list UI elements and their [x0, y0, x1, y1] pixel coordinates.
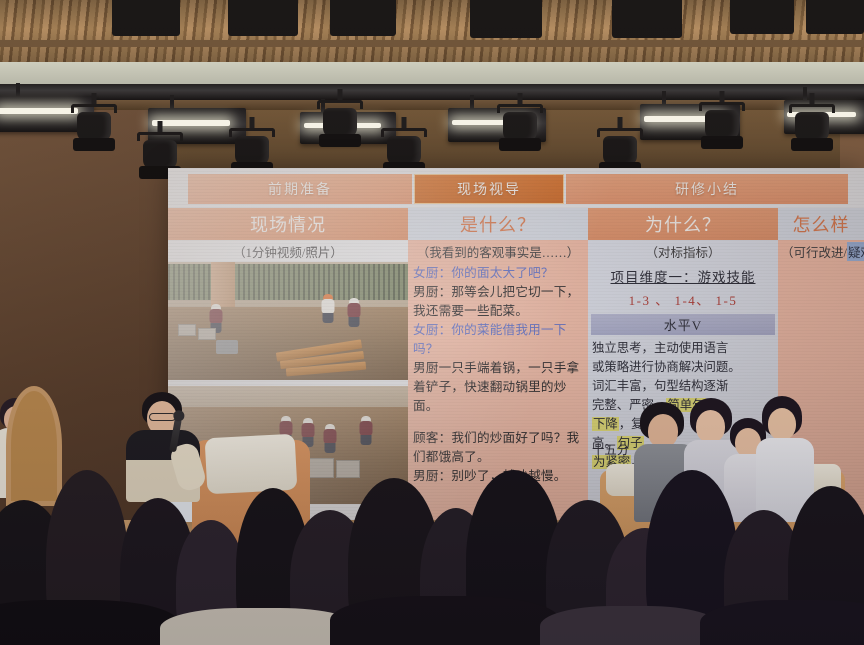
- ceiling-fixture-6: [730, 0, 794, 34]
- presenter-with-microphone: [124, 392, 214, 512]
- column-4-subtitle-plain: （可行改进/: [781, 242, 847, 261]
- transcript-line-2: 男厨：那等会儿把它切一下，我还需要一些配菜。: [413, 283, 585, 321]
- lighting-truss: [0, 84, 864, 100]
- column-4-subtitle-highlight: 疑难: [847, 242, 864, 261]
- photo-basin: [216, 340, 238, 354]
- slide-tab-preparation[interactable]: 前期准备: [188, 174, 412, 204]
- slide-tab-row: 前期准备 现场视导 研修小结: [188, 174, 848, 204]
- slide-column-what: 是什么？ （我看到的客观事实是……） 女厨：你的面太大了吧？ 男厨：那等会儿把它…: [408, 208, 588, 520]
- ceiling-fixture-3: [330, 0, 396, 36]
- glasses-icon: [149, 413, 176, 421]
- transcript-gap: [413, 416, 585, 429]
- moderator-chair-back: [6, 386, 62, 506]
- panelist-2-head: [696, 410, 725, 443]
- column-4-header: 怎么样: [778, 208, 864, 240]
- ceiling-beam: [0, 40, 864, 47]
- project-dimension-title: 项目维度一：游戏技能: [593, 266, 773, 286]
- panelist-4-head: [768, 408, 796, 440]
- audience-shoulders: [330, 596, 560, 645]
- photo-block-2: [198, 328, 216, 340]
- ceiling-fixture-7: [806, 0, 864, 34]
- indicator-line-1: 独立思考，主动使用语言: [592, 339, 775, 358]
- column-3-header: 为什么？: [588, 208, 778, 240]
- ceiling-fixture-1: [112, 0, 180, 36]
- indicator-highlight-2: 下降: [592, 417, 619, 431]
- level-band-label: 水平V: [591, 314, 775, 335]
- photo2-block-2: [308, 458, 334, 478]
- audience-shoulders: [700, 600, 864, 645]
- photo2-block-3: [336, 460, 360, 478]
- transcript-line-5: 顾客：我们的炒面好了吗？我们都饿高了。: [413, 429, 585, 467]
- photo-block-1: [178, 324, 196, 336]
- slide-tab-summary[interactable]: 研修小结: [566, 174, 848, 204]
- panelist-1-head: [648, 414, 678, 448]
- ceiling-fixture-5: [612, 0, 682, 38]
- indicator-line-2: 或策略进行协商解决问题。: [592, 358, 775, 377]
- ceiling-fixture-4: [470, 0, 542, 38]
- column-2-header: 是什么？: [408, 208, 588, 240]
- transcript-line-1: 女厨：你的面太大了吧？: [413, 264, 585, 283]
- column-2-subtitle: （我看到的客观事实是……）: [408, 240, 588, 262]
- column-1-header: 现场情况: [168, 208, 408, 240]
- situation-photo-1: [168, 262, 408, 380]
- indicator-codes: 1-3 、 1-4、 1-5: [593, 290, 773, 309]
- ceiling-fixture-2: [228, 0, 298, 36]
- slide-tab-onsite-guidance[interactable]: 现场视导: [414, 174, 564, 204]
- audience-shoulders: [0, 600, 180, 645]
- screenshot-root: 前期准备 现场视导 研修小结 现场情况 （1分钟视频/照片）: [0, 0, 864, 645]
- audience-shoulders: [540, 606, 720, 645]
- indicator-line-3: 词汇丰富，句型结构逐渐: [592, 377, 775, 396]
- column-1-subtitle: （1分钟视频/照片）: [168, 240, 408, 262]
- column-4-subtitle: （可行改进/ 疑难: [778, 240, 864, 262]
- indicator-footer: 十五分: [592, 440, 629, 458]
- column-2-transcript: 女厨：你的面太大了吧？ 男厨：那等会儿把它切一下，我还需要一些配菜。 女厨：你的…: [413, 264, 585, 486]
- column-3-subtitle: （对标指标）: [588, 240, 778, 262]
- ceiling-upper-band: [0, 62, 864, 84]
- armchair-cushion: [205, 434, 298, 495]
- transcript-line-3: 女厨：你的菜能借我用一下吗？: [413, 321, 585, 359]
- transcript-line-4: 男厨一只手端着锅，一只手拿着铲子，快速翻动锅里的炒面。: [413, 359, 585, 416]
